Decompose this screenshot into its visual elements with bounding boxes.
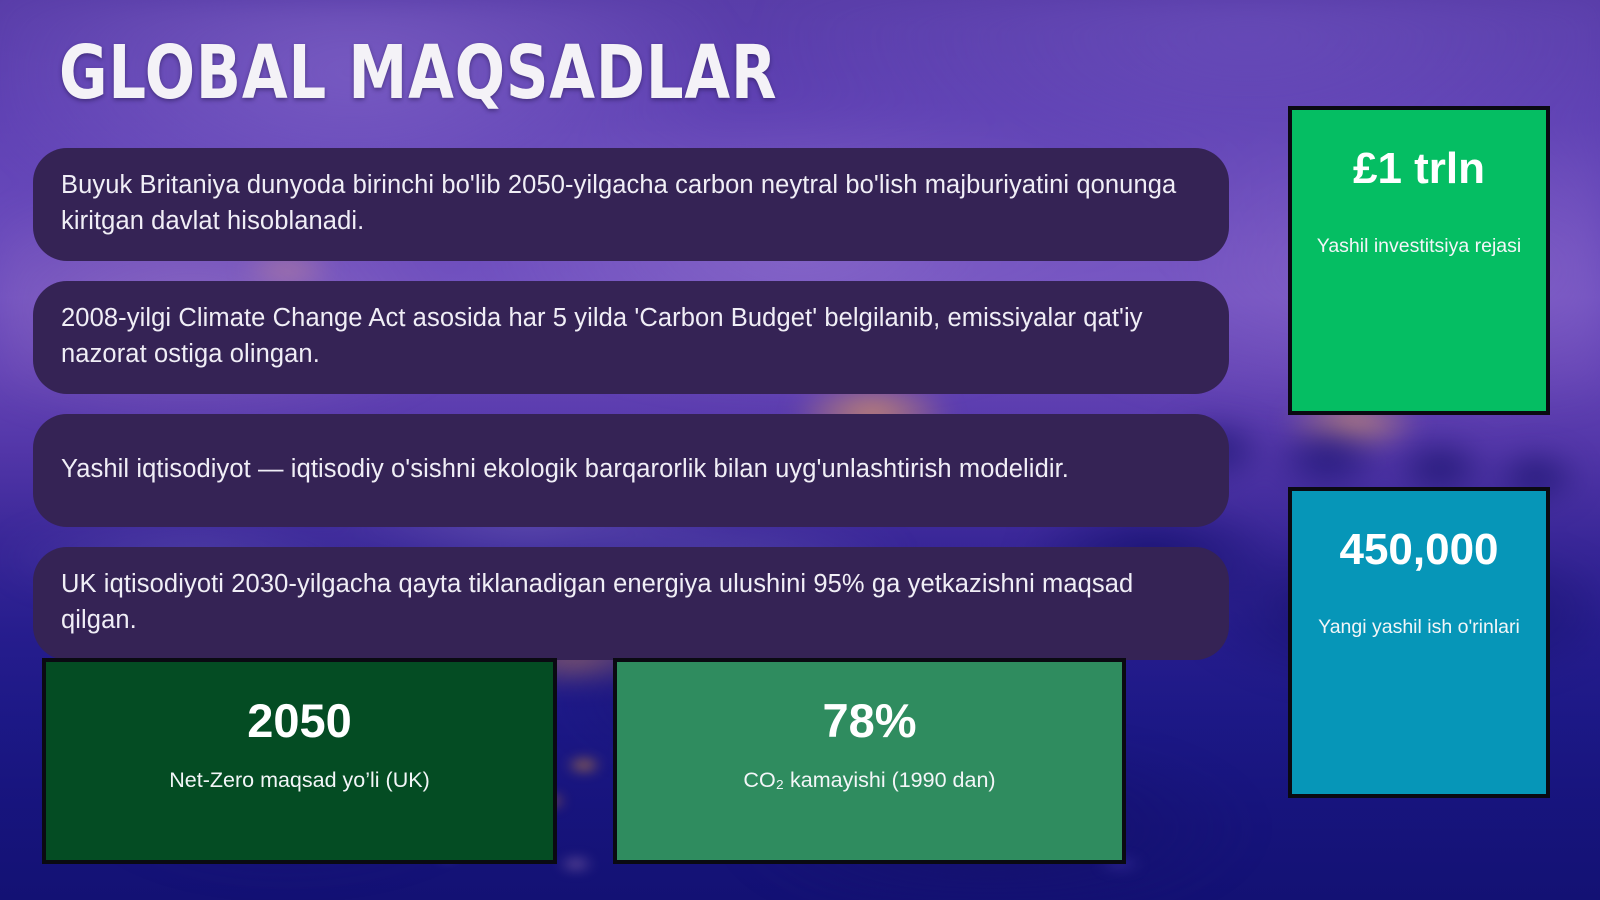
bullet-list: Buyuk Britaniya dunyoda birinchi bo'lib … — [33, 148, 1229, 680]
bullet-text-2: 2008-yilgi Climate Change Act asosida ha… — [61, 301, 1201, 371]
stat-box-investment: £1 trln Yashil investitsiya rejasi — [1288, 106, 1550, 415]
stat-box-netzero: 2050 Net-Zero maqsad yo’li (UK) — [42, 658, 557, 864]
stat-label-netzero: Net-Zero maqsad yo’li (UK) — [169, 767, 429, 795]
bullet-text-1: Buyuk Britaniya dunyoda birinchi bo'lib … — [61, 168, 1201, 238]
stat-label-co2-subscript: ₂ — [776, 768, 784, 792]
bullet-card-1: Buyuk Britaniya dunyoda birinchi bo'lib … — [33, 148, 1229, 261]
bullet-text-4: UK iqtisodiyoti 2030-yilgacha qayta tikl… — [61, 567, 1201, 637]
stat-label-investment: Yashil investitsiya rejasi — [1317, 234, 1521, 259]
stat-value-jobs: 450,000 — [1339, 527, 1498, 573]
bullet-text-3: Yashil iqtisodiyot — iqtisodiy o'sishni … — [61, 452, 1069, 487]
presentation-slide: GLOBAL MAQSADLAR Buyuk Britaniya dunyoda… — [0, 0, 1600, 900]
stat-label-jobs: Yangi yashil ish o'rinlari — [1318, 615, 1520, 640]
stat-value-investment: £1 trln — [1353, 146, 1485, 192]
stat-label-co2-prefix: CO — [743, 768, 775, 792]
bullet-card-4: UK iqtisodiyoti 2030-yilgacha qayta tikl… — [33, 547, 1229, 660]
slide-title: GLOBAL MAQSADLAR — [59, 36, 777, 110]
stat-label-co2: CO₂ kamayishi (1990 dan) — [743, 767, 995, 795]
stat-box-co2: 78% CO₂ kamayishi (1990 dan) — [613, 658, 1126, 864]
stat-value-co2: 78% — [822, 696, 916, 745]
bullet-card-2: 2008-yilgi Climate Change Act asosida ha… — [33, 281, 1229, 394]
stat-value-netzero: 2050 — [247, 696, 352, 745]
bullet-card-3: Yashil iqtisodiyot — iqtisodiy o'sishni … — [33, 414, 1229, 527]
stat-box-jobs: 450,000 Yangi yashil ish o'rinlari — [1288, 487, 1550, 798]
stat-label-co2-suffix: kamayishi (1990 dan) — [784, 768, 996, 792]
